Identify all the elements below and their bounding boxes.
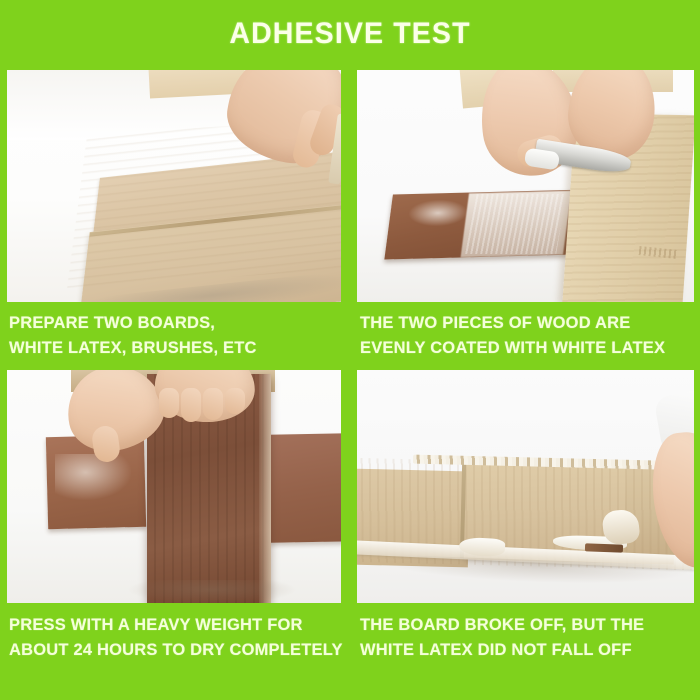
photo2-latex-streaks: [464, 194, 566, 254]
photo-coat-with-latex: [357, 70, 694, 302]
caption-panel-4: THE BOARD BROKE OFF, BUT THE WHITE LATEX…: [360, 613, 696, 663]
caption-panel-2: THE TWO PIECES OF WOOD ARE EVENLY COATED…: [360, 311, 696, 361]
photo-panel-1: [7, 70, 341, 302]
adhesive-test-infographic: ADHESIVE TEST: [0, 0, 700, 700]
caption-3-line-2: ABOUT 24 HOURS TO DRY COMPLETELY: [9, 638, 345, 663]
photo3-right-board: [268, 433, 341, 542]
photo-press-with-weight: [7, 370, 341, 603]
title-bar: ADHESIVE TEST: [0, 0, 700, 68]
photo-panel-3: [7, 370, 341, 603]
caption-1-line-2: WHITE LATEX, BRUSHES, ETC: [9, 336, 345, 361]
caption-3-line-1: PRESS WITH A HEAVY WEIGHT FOR: [9, 616, 303, 634]
photo-board-broke-off: [357, 370, 694, 603]
page-title: ADHESIVE TEST: [229, 17, 470, 51]
photo3-latex-residue: [55, 454, 131, 500]
caption-4-line-2: WHITE LATEX DID NOT FALL OFF: [360, 638, 696, 663]
photo3-board-edge: [259, 374, 271, 603]
caption-panel-3: PRESS WITH A HEAVY WEIGHT FOR ABOUT 24 H…: [9, 613, 345, 663]
caption-4-line-1: THE BOARD BROKE OFF, BUT THE: [360, 616, 644, 634]
caption-panel-1: PREPARE TWO BOARDS, WHITE LATEX, BRUSHES…: [9, 311, 345, 361]
photo-prepare-boards: [7, 70, 341, 302]
caption-2-line-2: EVENLY COATED WITH WHITE LATEX: [360, 336, 696, 361]
photo-panel-2: [357, 70, 694, 302]
caption-1-line-1: PREPARE TWO BOARDS,: [9, 314, 215, 332]
photo3-drop-shadow: [127, 580, 297, 603]
photo3-fingers: [159, 388, 251, 422]
photo2-latex-smear: [407, 200, 469, 226]
photo4-broken-wood-fragment: [585, 543, 623, 552]
caption-2-line-1: THE TWO PIECES OF WOOD ARE: [360, 314, 630, 332]
photo-panel-4: [357, 370, 694, 603]
